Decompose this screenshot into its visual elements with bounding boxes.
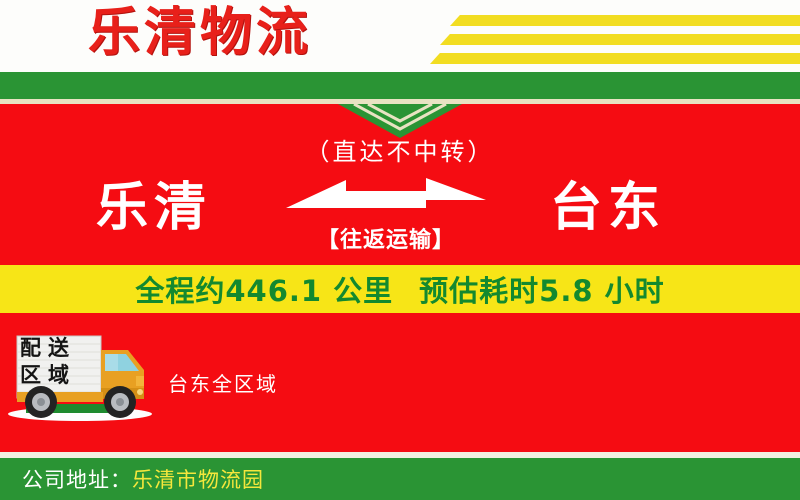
stripe-2: [440, 34, 800, 45]
stripe-3: [430, 53, 800, 64]
decorative-stripes: [420, 10, 800, 68]
green-divider-band: [0, 72, 800, 99]
truck-box-line-1: 配送: [20, 335, 98, 362]
logistics-banner: 乐清物流 （直达不中转） 乐清 台东 【往返运输】: [0, 0, 800, 500]
double-headed-arrow-icon: [286, 178, 486, 212]
truck-box-line-2: 区域: [20, 362, 98, 389]
address-value: 乐清市物流园: [132, 464, 264, 494]
delivery-area-panel: 配送 区域 台东全区域: [0, 313, 800, 458]
footer-bar: 公司地址： 乐清市物流园: [0, 458, 800, 500]
distance-text: 全程约446.1 公里: [135, 268, 393, 310]
banner-header: 乐清物流: [0, 0, 800, 72]
roundtrip-label: 【往返运输】: [286, 222, 486, 254]
route-info-text: 全程约446.1 公里 预估耗时5.8 小时: [0, 265, 800, 313]
duration-text: 预估耗时5.8 小时: [419, 268, 664, 310]
route-main-panel: （直达不中转） 乐清 台东 【往返运输】: [0, 104, 800, 265]
destination-city: 台东: [550, 178, 666, 238]
coverage-area-text: 台东全区域: [168, 368, 278, 397]
route-info-band: 全程约446.1 公里 预估耗时5.8 小时: [0, 265, 800, 313]
address-label: 公司地址：: [22, 464, 132, 494]
origin-city: 乐清: [96, 178, 212, 238]
stripe-1: [450, 15, 800, 26]
truck-box-label: 配送 区域: [20, 335, 98, 389]
company-brand-title: 乐清物流: [88, 2, 312, 64]
company-address: 公司地址： 乐清市物流园: [22, 458, 264, 500]
direct-shipping-subtitle: （直达不中转）: [0, 132, 800, 167]
